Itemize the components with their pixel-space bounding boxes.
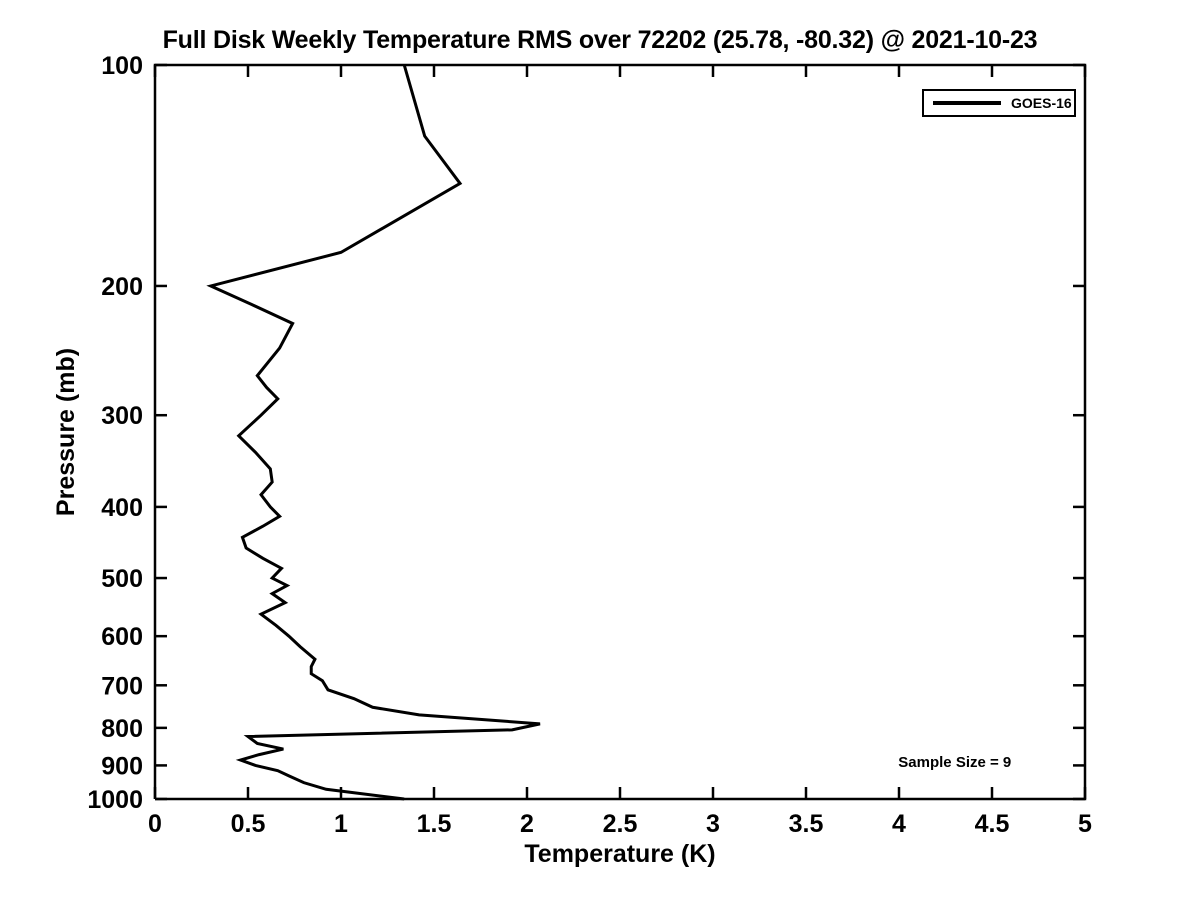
x-tick-label: 0.5: [231, 810, 266, 838]
chart-figure: Full Disk Weekly Temperature RMS over 72…: [0, 0, 1200, 900]
axis-frame: [155, 65, 1085, 799]
y-tick-label: 500: [101, 565, 143, 593]
x-tick-label: 1: [334, 810, 348, 838]
x-tick-label: 2: [520, 810, 534, 838]
y-tick-label: 600: [101, 623, 143, 651]
y-tick-label: 300: [101, 402, 143, 430]
x-tick-label: 3: [706, 810, 720, 838]
chart-legend[interactable]: GOES-16: [923, 90, 1075, 116]
x-tick-label: 1.5: [417, 810, 452, 838]
y-tick-label: 400: [101, 494, 143, 522]
data-line-goes-16: [211, 65, 540, 799]
y-tick-label: 900: [101, 752, 143, 780]
annotations-group: Sample Size = 9: [898, 754, 1011, 771]
plot-area: 1002003004005006007008009001000 00.511.5…: [0, 0, 1200, 900]
x-axis-ticks: 00.511.522.533.544.55: [148, 65, 1092, 838]
sample-size-annotation: Sample Size = 9: [898, 754, 1011, 771]
y-axis-title: Pressure (mb): [52, 348, 80, 516]
x-axis-title: Temperature (K): [524, 840, 715, 868]
x-tick-label: 0: [148, 810, 162, 838]
y-tick-label: 200: [101, 273, 143, 301]
legend-label[interactable]: GOES-16: [1011, 95, 1072, 111]
x-tick-label: 4.5: [975, 810, 1010, 838]
x-tick-label: 2.5: [603, 810, 638, 838]
y-tick-label: 700: [101, 672, 143, 700]
x-tick-label: 5: [1078, 810, 1092, 838]
x-tick-label: 3.5: [789, 810, 824, 838]
y-tick-label: 100: [101, 52, 143, 80]
y-tick-label: 1000: [87, 786, 143, 814]
y-tick-label: 800: [101, 715, 143, 743]
y-axis-ticks: 1002003004005006007008009001000: [87, 52, 1085, 814]
data-series-group: [211, 65, 540, 799]
x-tick-label: 4: [892, 810, 906, 838]
